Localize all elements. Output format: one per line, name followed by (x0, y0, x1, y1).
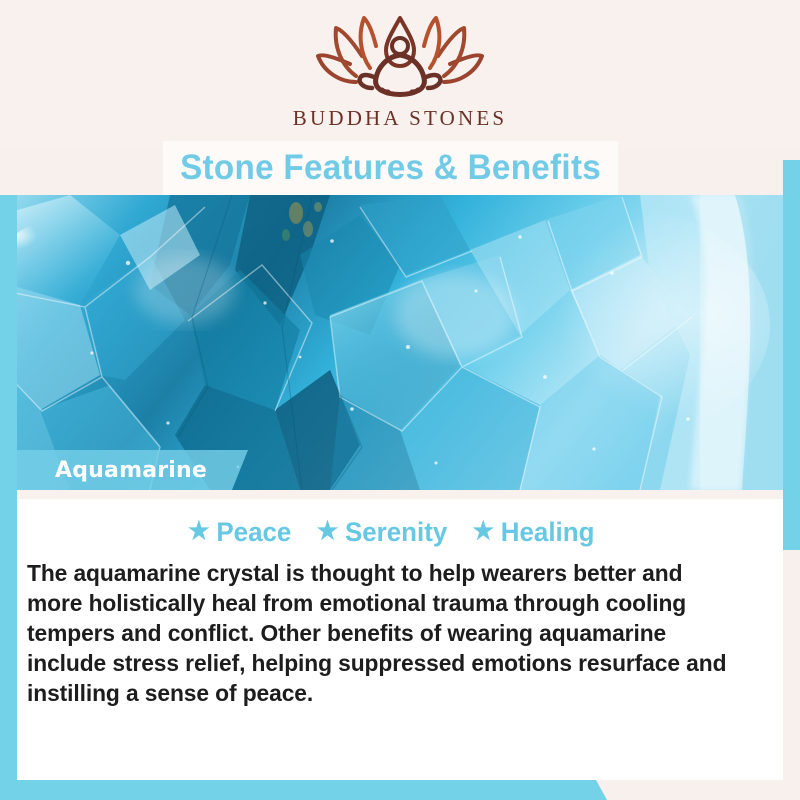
panel-top-divider (17, 490, 783, 499)
aquamarine-crystal-photo (0, 195, 783, 490)
left-accent-strip (0, 195, 17, 780)
keyword-healing: ★ Healing (472, 517, 594, 548)
bottom-accent-bar (0, 780, 607, 800)
stone-name-tag: Aquamarine (0, 450, 248, 490)
stone-name: Aquamarine (55, 458, 207, 483)
description-text: The aquamarine crystal is thought to hel… (27, 558, 735, 708)
keyword-label: Peace (217, 517, 292, 548)
right-accent-strip (783, 160, 800, 550)
description-block: The aquamarine crystal is thought to hel… (27, 558, 735, 708)
page-title: Stone Features & Benefits (180, 148, 601, 188)
keyword-label: Serenity (345, 517, 447, 548)
keyword-label: Healing (501, 517, 595, 548)
star-icon: ★ (472, 519, 494, 544)
page-title-banner: Stone Features & Benefits (163, 141, 618, 195)
keyword-peace: ★ Peace (188, 517, 291, 548)
lotus-meditation-icon (314, 16, 486, 104)
brand-name: BUDDHA STONES (293, 106, 508, 131)
keyword-serenity: ★ Serenity (317, 517, 448, 548)
brand-header: BUDDHA STONES (0, 0, 800, 150)
star-icon: ★ (188, 519, 210, 544)
keyword-row: ★ Peace ★ Serenity ★ Healing (0, 512, 783, 552)
infographic-page: BUDDHA STONES Stone Features & Benefits (0, 0, 800, 800)
star-icon: ★ (317, 519, 339, 544)
